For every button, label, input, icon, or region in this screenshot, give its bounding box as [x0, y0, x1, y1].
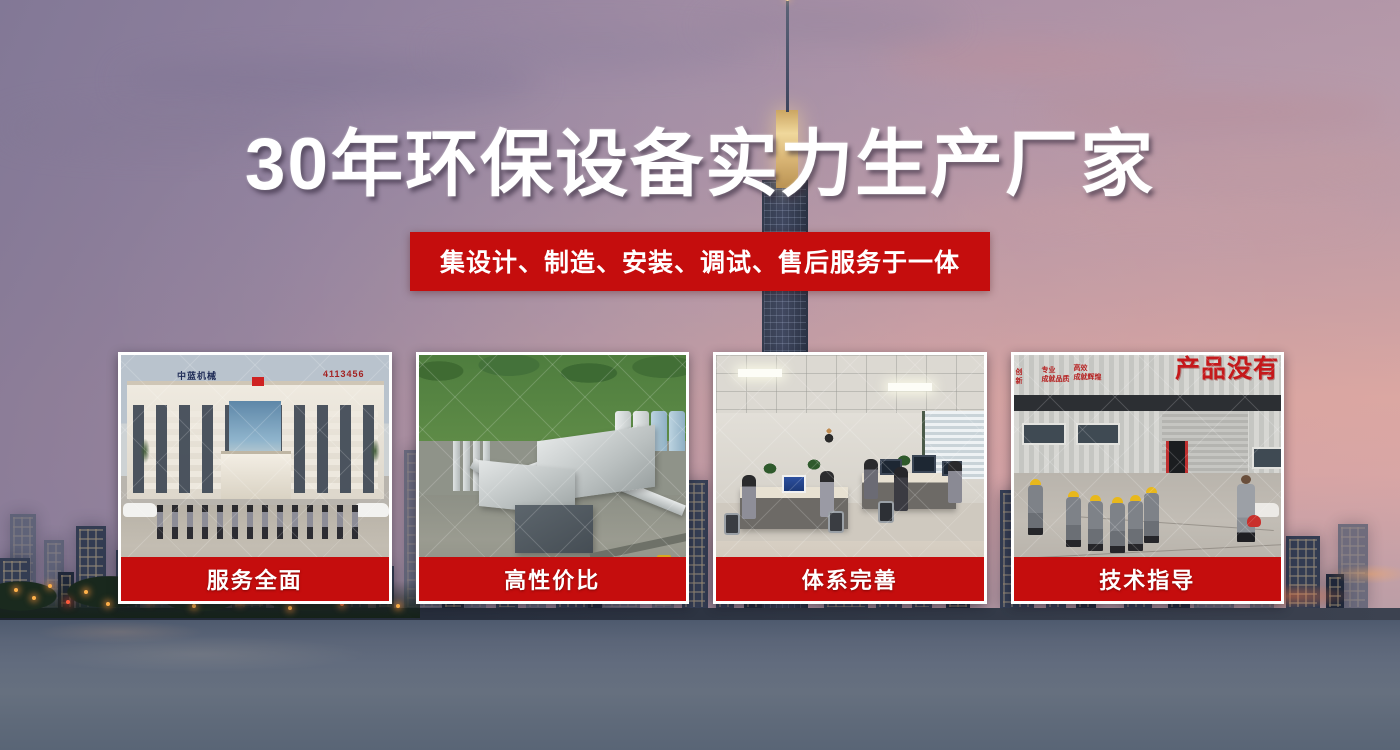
feature-card-system[interactable]: 体系完善: [713, 352, 987, 604]
feature-card-training[interactable]: 产品没有 创新 专业成就品质 高效成就辉煌: [1011, 352, 1285, 604]
factory-wall-slogan: 高效成就辉煌: [1074, 365, 1102, 383]
building-phone-text: 4113456: [323, 369, 365, 379]
banner-subtitle: 集设计、制造、安装、调试、售后服务于一体: [410, 232, 990, 291]
office-interior-staff-working-photo: [716, 355, 984, 557]
aerial-industrial-plant-photo: [419, 355, 687, 557]
wall-decal-icon: [812, 419, 846, 449]
feature-card-service[interactable]: 中蓝机械 4113456: [118, 352, 392, 604]
factory-wall-slogan: 创新: [1016, 369, 1023, 387]
card-label-value: 高性价比: [419, 557, 687, 601]
building-sign-text: 中蓝机械: [177, 369, 217, 382]
factory-wall-headline: 产品没有: [1175, 357, 1279, 382]
factory-wall-slogan: 专业成就品质: [1042, 367, 1070, 385]
promo-banner: 30年环保设备实力生产厂家 集设计、制造、安装、调试、售后服务于一体 中蓝机械 …: [0, 0, 1400, 750]
red-helmet: [1247, 515, 1261, 527]
card-label-system: 体系完善: [716, 557, 984, 601]
feature-card-row: 中蓝机械 4113456: [118, 352, 1284, 604]
feature-card-value[interactable]: 高性价比: [416, 352, 690, 604]
company-office-building-staff-photo: 中蓝机械 4113456: [121, 355, 389, 557]
subtitle-bar-wrapper: 集设计、制造、安装、调试、售后服务于一体: [0, 232, 1400, 291]
factory-yard-workers-training-photo: 产品没有 创新 专业成就品质 高效成就辉煌: [1014, 355, 1282, 557]
card-label-training: 技术指导: [1014, 557, 1282, 601]
card-label-service: 服务全面: [121, 557, 389, 601]
banner-headline: 30年环保设备实力生产厂家: [0, 126, 1400, 203]
